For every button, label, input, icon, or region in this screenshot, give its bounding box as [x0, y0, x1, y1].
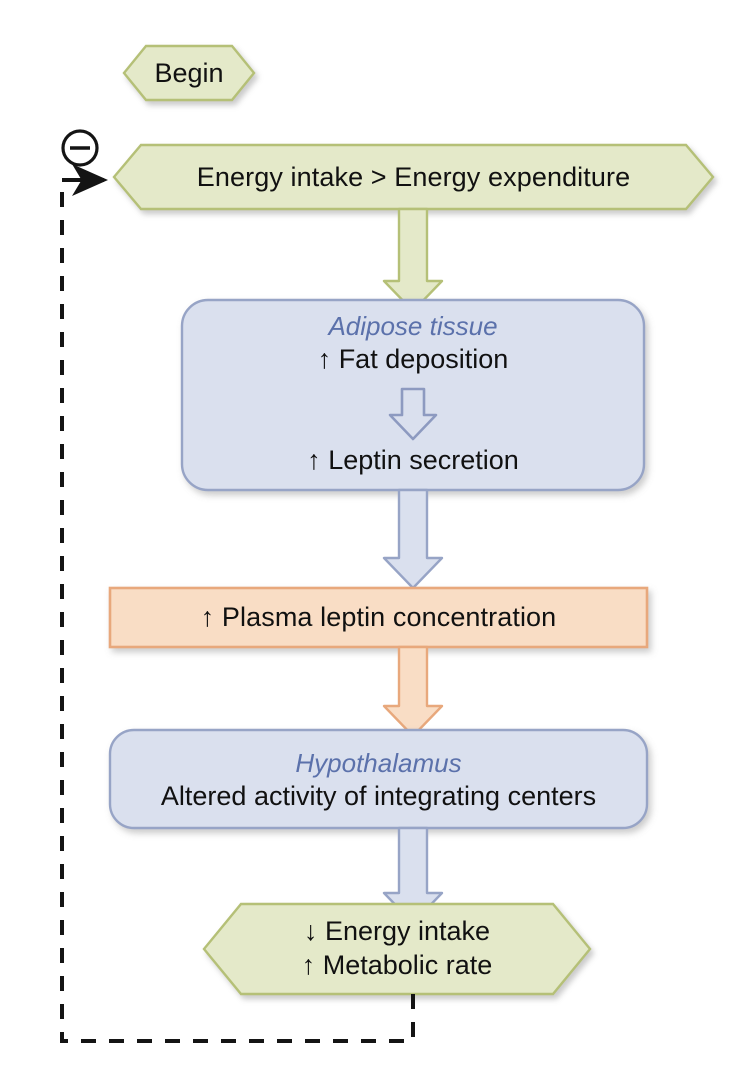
arrow-adipose-to-plasma [384, 490, 442, 588]
node-adipose-tissue [182, 300, 644, 490]
node-response [204, 904, 590, 994]
minus-circle-icon [63, 131, 97, 165]
node-begin [124, 46, 254, 100]
diagram-canvas [0, 0, 756, 1084]
arrow-imbalance-to-adipose [384, 209, 442, 311]
node-hypothalamus [110, 730, 647, 828]
node-plasma-leptin [110, 588, 647, 647]
arrow-plasma-to-hypothalamus [384, 647, 442, 736]
node-energy-imbalance [114, 145, 713, 209]
